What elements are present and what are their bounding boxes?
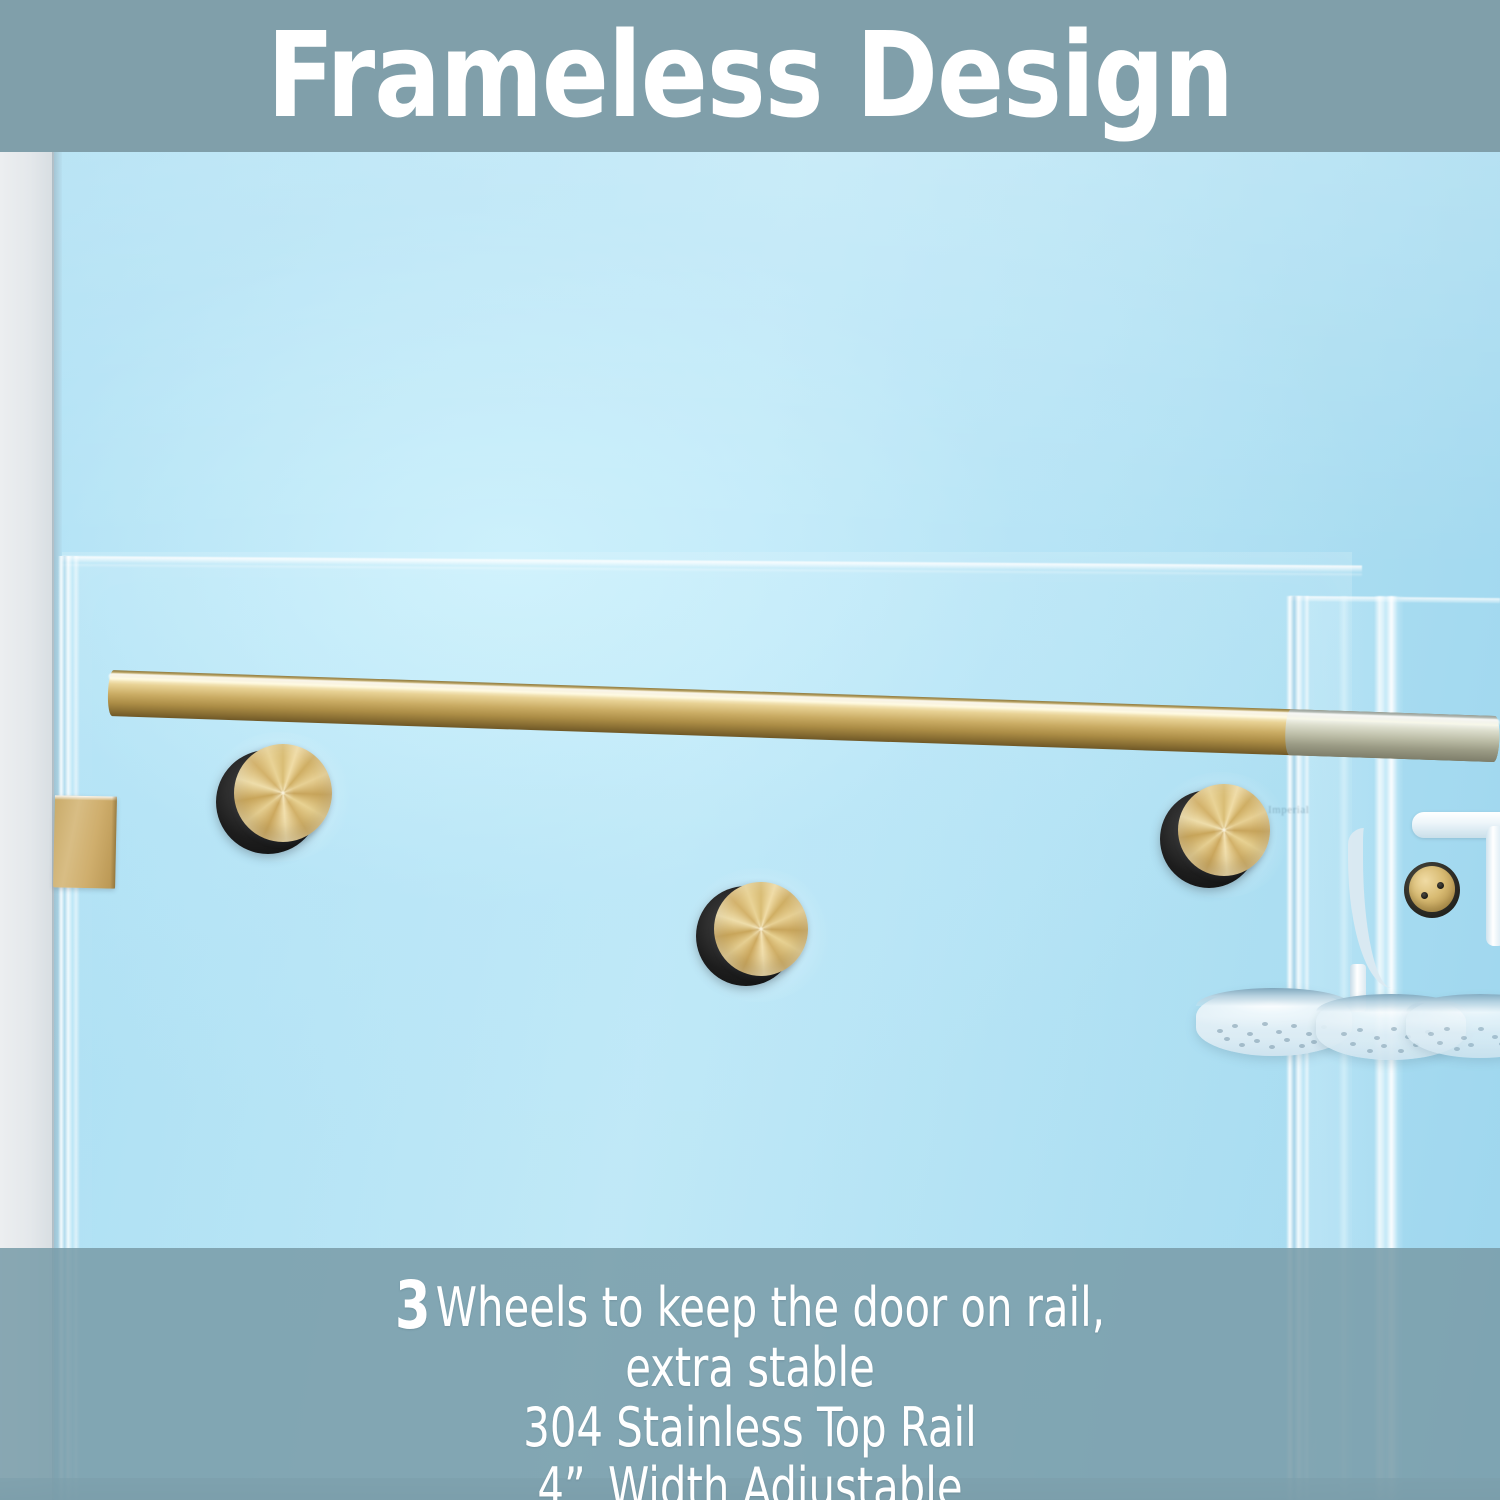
screw-icon — [1421, 892, 1428, 899]
page-title: Frameless Design — [53, 0, 1448, 152]
caption-line-3: 304 Stainless Top Rail — [105, 1398, 1395, 1458]
caption-size-value: 4” — [537, 1456, 585, 1500]
roller-wheel-right — [1172, 784, 1270, 882]
screw-icon — [1437, 882, 1444, 889]
end-cap-face — [1409, 866, 1455, 912]
wheel-brushed-gold-cap — [234, 744, 332, 842]
wall-mount-bracket — [53, 795, 117, 888]
product-infographic: Frameless Design — [0, 0, 1500, 1500]
caption-line-1: 3Wheels to keep the door on rail, — [105, 1276, 1395, 1338]
caption-line-1-text: Wheels to keep the door on rail, — [436, 1276, 1105, 1339]
caption-lead-number: 3 — [395, 1267, 431, 1344]
caption-line-2: extra stable — [105, 1338, 1395, 1398]
shower-head-nozzles — [1421, 1022, 1500, 1051]
caption-overlay: 3Wheels to keep the door on rail, extra … — [0, 1248, 1500, 1500]
header-banner: Frameless Design — [0, 0, 1500, 152]
background-sheen — [0, 152, 1500, 572]
roller-wheel-left — [228, 744, 332, 848]
caption-line-4-text: Width Adjustable — [608, 1456, 963, 1500]
shower-head-refraction-right — [1406, 994, 1500, 1058]
roller-wheel-center — [708, 882, 806, 980]
wall-bracket-top-highlight — [55, 795, 117, 800]
caption-line-4: 4”Width Adjustable — [105, 1458, 1395, 1500]
wheel-brushed-gold-cap — [1178, 784, 1270, 876]
rail-end-cap — [1404, 862, 1460, 918]
shower-riser-pipe — [1486, 826, 1500, 946]
wheel-brushed-gold-cap — [714, 882, 808, 976]
